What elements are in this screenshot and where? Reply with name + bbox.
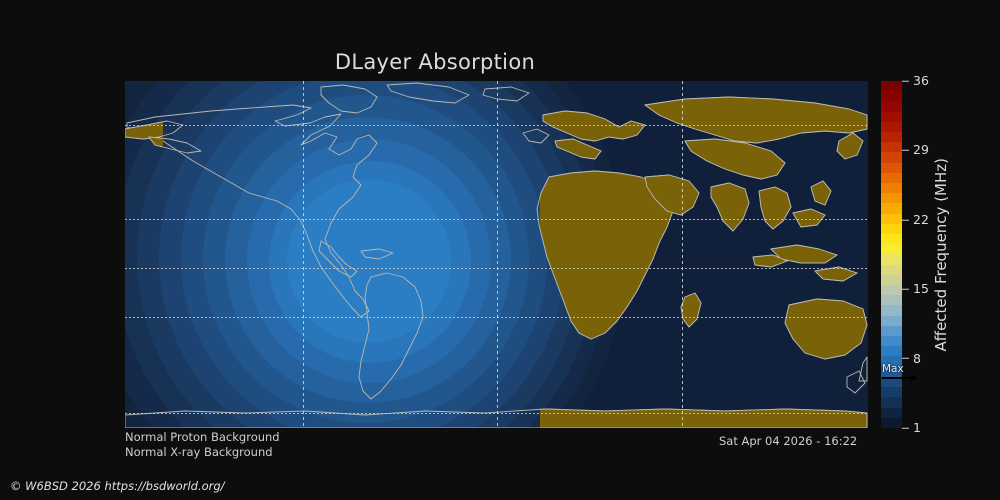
colorbar-tick: 22	[902, 214, 929, 227]
colorbar-tick-label: 8	[913, 352, 921, 365]
colorbar-axis-title: Affected Frequency (MHz)	[930, 81, 952, 428]
colorbar-swatch	[881, 316, 902, 326]
page-title: DLayer Absorption	[0, 50, 870, 74]
colorbar-tick-label: 36	[913, 75, 929, 88]
colorbar-swatch	[881, 203, 902, 213]
colorbar-swatch	[881, 275, 902, 285]
colorbar-tick-dash	[902, 81, 909, 82]
colorbar-tick-dash	[902, 428, 909, 429]
colorbar-swatch	[881, 387, 902, 397]
colorbar-tick: 8	[902, 352, 921, 365]
colorbar-swatch	[881, 305, 902, 315]
colorbar-tick-label: 1	[913, 422, 921, 435]
colorbar-swatch	[881, 408, 902, 418]
colorbar-tick-label: 22	[913, 214, 929, 227]
colorbar-tick: 1	[902, 422, 921, 435]
colorbar-swatch	[881, 254, 902, 264]
coastline-layer	[125, 81, 868, 428]
world-map[interactable]	[125, 81, 868, 428]
colorbar-tick-dash	[902, 219, 909, 220]
timestamp-label: Sat Apr 04 2026 - 16:22	[719, 434, 857, 448]
credit-label: © W6BSD 2026 https://bsdworld.org/	[10, 479, 225, 493]
colorbar-swatch	[881, 336, 902, 346]
colorbar-swatch	[881, 234, 902, 244]
colorbar-tick: 29	[902, 144, 929, 157]
colorbar-swatch	[881, 418, 902, 428]
colorbar-swatch	[881, 101, 902, 111]
colorbar-swatch	[881, 112, 902, 122]
colorbar-swatch	[881, 326, 902, 336]
colorbar-tick-label: 15	[913, 283, 929, 296]
colorbar-swatch	[881, 173, 902, 183]
colorbar-swatch	[881, 265, 902, 275]
colorbar-max-marker: Max	[881, 365, 931, 387]
colorbar-swatch	[881, 91, 902, 101]
colorbar-swatch	[881, 193, 902, 203]
colorbar-axis-title-text: Affected Frequency (MHz)	[932, 158, 950, 352]
colorbar-tick-dash	[902, 289, 909, 290]
colorbar-swatch	[881, 152, 902, 162]
colorbar-swatch	[881, 132, 902, 142]
colorbar-tick-dash	[902, 150, 909, 151]
colorbar-tick: 36	[902, 75, 929, 88]
xray-background-status: Normal X-ray Background	[125, 445, 273, 459]
colorbar-swatch	[881, 397, 902, 407]
colorbar-swatch	[881, 285, 902, 295]
colorbar-swatch	[881, 224, 902, 234]
colorbar-swatch	[881, 142, 902, 152]
proton-background-status: Normal Proton Background	[125, 430, 280, 444]
max-marker-arrow	[882, 377, 912, 379]
colorbar-swatch	[881, 346, 902, 356]
colorbar-swatch	[881, 81, 902, 91]
colorbar-tick: 15	[902, 283, 929, 296]
colorbar-swatch	[881, 214, 902, 224]
colorbar-tick-dash	[902, 358, 909, 359]
colorbar-swatch	[881, 122, 902, 132]
colorbar-tick-label: 29	[913, 144, 929, 157]
colorbar-swatch	[881, 183, 902, 193]
dlayer-absorption-page: DLayer Absorption	[0, 0, 1000, 500]
colorbar-swatch	[881, 295, 902, 305]
max-marker-label: Max	[882, 364, 904, 375]
colorbar-swatch	[881, 244, 902, 254]
colorbar-swatch	[881, 163, 902, 173]
map-canvas	[125, 81, 868, 428]
